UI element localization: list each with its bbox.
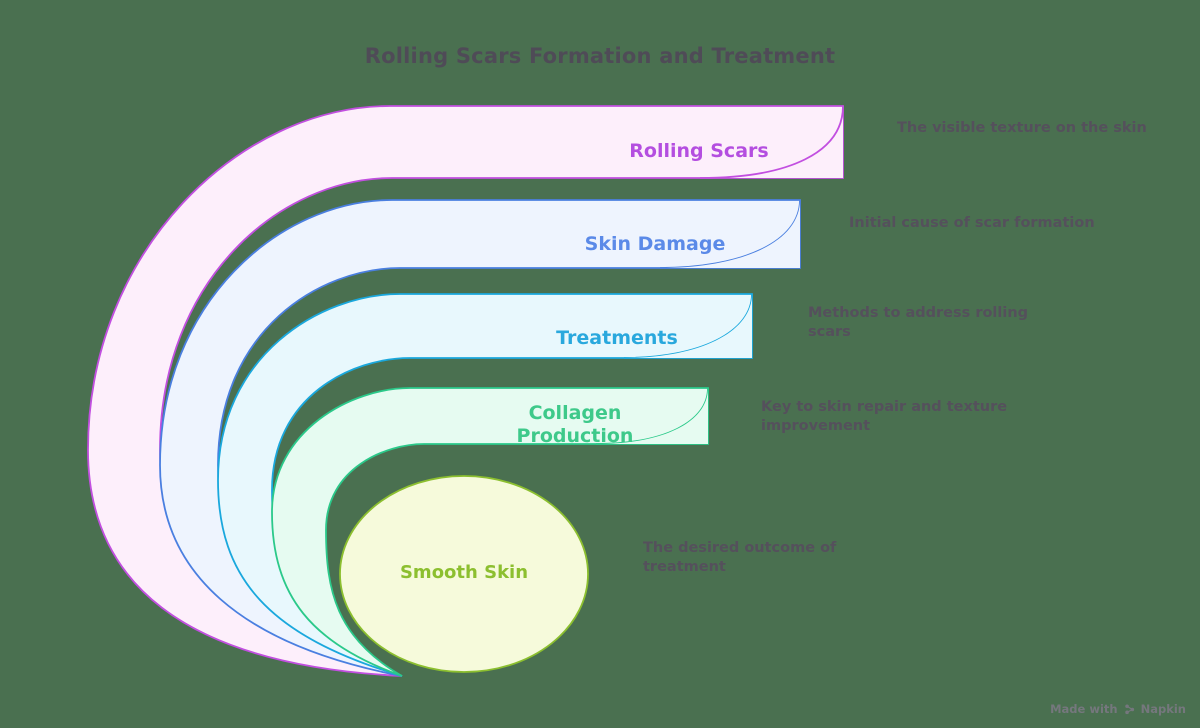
layer-note-collagen-production: Key to skin repair and texture improveme… (761, 398, 1023, 437)
layer-note-treatments: Methods to address rolling scars (808, 304, 1058, 343)
watermark-prefix: Made with (1050, 702, 1118, 716)
napkin-logo-icon (1123, 703, 1136, 716)
watermark-brand: Napkin (1141, 702, 1186, 716)
layer-label-rolling-scars: Rolling Scars (560, 140, 838, 163)
layer-label-skin-damage: Skin Damage (516, 233, 794, 256)
layer-note-smooth-skin: The desired outcome of treatment (643, 539, 883, 578)
layer-note-rolling-scars: The visible texture on the skin (897, 119, 1187, 138)
layer-label-collagen-production: Collagen Production (436, 402, 714, 448)
nested-layers-graphic (0, 0, 1200, 728)
napkin-watermark[interactable]: Made with Napkin (1050, 702, 1186, 716)
layer-label-smooth-skin: Smooth Skin (325, 562, 603, 584)
layer-note-skin-damage: Initial cause of scar formation (849, 214, 1139, 233)
diagram-canvas: Rolling Scars Formation and Treatment Ro… (0, 0, 1200, 728)
layer-label-treatments: Treatments (478, 327, 756, 350)
